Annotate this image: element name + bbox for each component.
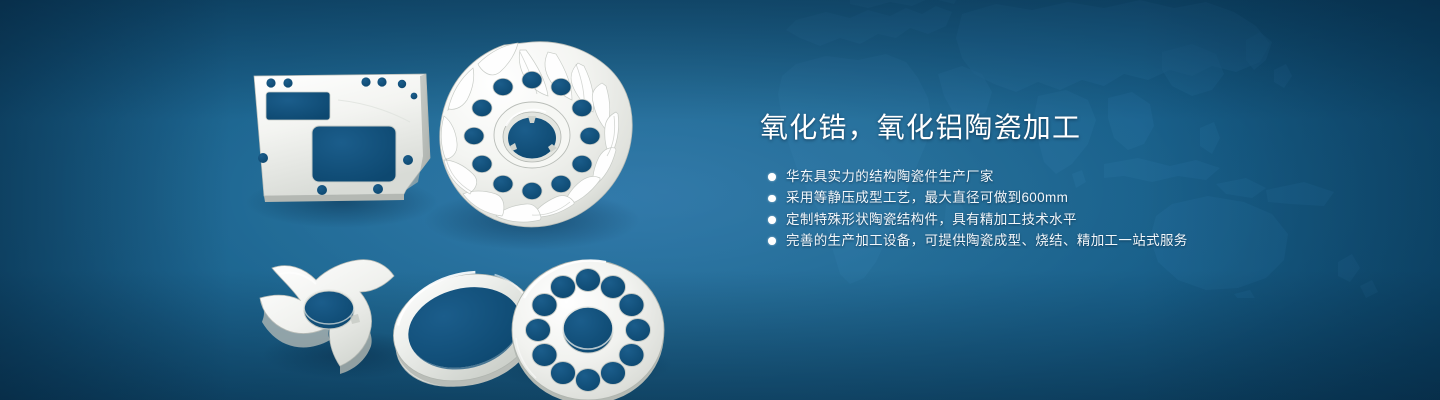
bullet-dot-icon [768,195,776,203]
list-item: 完善的生产加工设备，可提供陶瓷成型、烧结、精加工一站式服务 [760,230,1360,251]
ceramic-perforated-disc-shape [512,260,664,400]
list-item: 定制特殊形状陶瓷结构件，具有精加工技术水平 [760,209,1360,230]
list-item: 采用等静压成型工艺，最大直径可做到600mm [760,187,1360,208]
list-item-label: 完善的生产加工设备，可提供陶瓷成型、烧结、精加工一站式服务 [786,233,1188,248]
list-item-label: 采用等静压成型工艺，最大直径可做到600mm [786,190,1068,205]
bullet-dot-icon [768,237,776,245]
page-title: 氧化锆，氧化铝陶瓷加工 [760,108,1360,148]
ceramic-plate-shape [254,74,430,202]
product-photo-group [230,30,700,375]
bullet-dot-icon [768,216,776,224]
banner-copy: 氧化锆，氧化铝陶瓷加工 华东具实力的结构陶瓷件生产厂家 采用等静压成型工艺，最大… [760,108,1360,252]
list-item: 华东具实力的结构陶瓷件生产厂家 [760,166,1360,187]
list-item-label: 华东具实力的结构陶瓷件生产厂家 [786,169,994,184]
list-item-label: 定制特殊形状陶瓷结构件，具有精加工技术水平 [786,212,1077,227]
feature-list: 华东具实力的结构陶瓷件生产厂家 采用等静压成型工艺，最大直径可做到600mm 定… [760,166,1360,252]
background-left-shade [0,0,230,400]
hero-banner: 氧化锆，氧化铝陶瓷加工 华东具实力的结构陶瓷件生产厂家 采用等静压成型工艺，最大… [0,0,1440,400]
bullet-dot-icon [768,173,776,181]
